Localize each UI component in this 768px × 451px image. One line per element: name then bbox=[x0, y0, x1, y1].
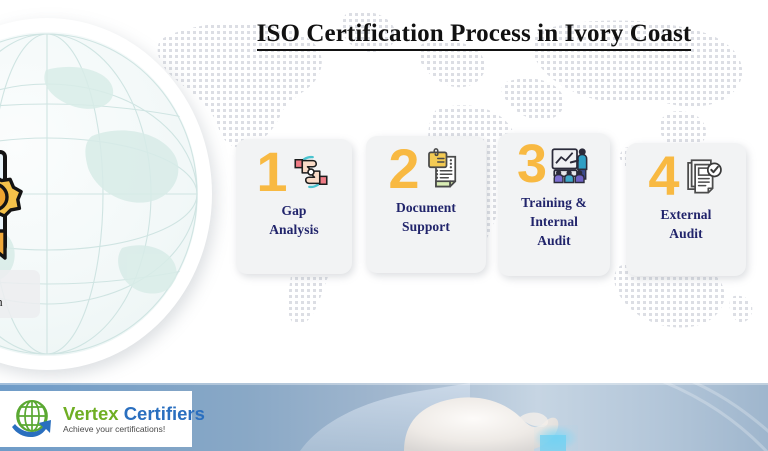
step-card-document-support[interactable]: 2 bbox=[366, 136, 486, 273]
iso-badge-line-2: Certification bbox=[0, 294, 34, 311]
logo-text-block: Vertex Certifiers Achieve your certifica… bbox=[63, 404, 205, 435]
step-label: Training & Internal Audit bbox=[498, 190, 610, 260]
step-card-external-audit[interactable]: 4 External Aud bbox=[626, 143, 746, 276]
audit-documents-check-icon bbox=[682, 155, 724, 197]
step-number: 4 bbox=[648, 150, 677, 202]
page-title: ISO Certification Process in Ivory Coast bbox=[186, 20, 762, 48]
step-label-line-1: Document bbox=[372, 198, 480, 217]
step-label-line-2: Audit bbox=[632, 224, 740, 243]
step-card-header: 1 bbox=[236, 139, 352, 198]
logo-brand-first: Vertex bbox=[63, 403, 119, 424]
step-label: Document Support bbox=[366, 195, 486, 246]
logo-tagline: Achieve your certifications! bbox=[63, 424, 205, 434]
document-clipboard-icon bbox=[422, 148, 464, 190]
step-label: Gap Analysis bbox=[236, 198, 352, 249]
process-steps: 1 Gap Analysis bbox=[236, 131, 756, 281]
infographic-canvas: ISO Certification Process in Ivory Coast bbox=[0, 0, 768, 451]
step-label-line-2: Internal bbox=[504, 212, 604, 231]
step-label-line-1: External bbox=[632, 205, 740, 224]
step-label-line-3: Audit bbox=[504, 231, 604, 250]
step-label-line-2: Support bbox=[372, 217, 480, 236]
step-label-line-1: Training & bbox=[504, 193, 604, 212]
step-number: 1 bbox=[256, 146, 285, 198]
step-card-gap-analysis[interactable]: 1 Gap Analysis bbox=[236, 139, 352, 274]
teamwork-handshake-icon bbox=[290, 151, 332, 193]
step-card-header: 2 bbox=[366, 136, 486, 195]
step-card-training-internal-audit[interactable]: 3 bbox=[498, 133, 610, 276]
iso-badge-line-1: ISO bbox=[0, 277, 34, 294]
brand-logo[interactable]: Vertex Certifiers Achieve your certifica… bbox=[0, 391, 192, 447]
step-label-line-2: Analysis bbox=[242, 220, 346, 239]
certificate-award-icon bbox=[0, 136, 32, 266]
training-presentation-icon bbox=[549, 144, 591, 186]
hero-globe-panel: ISO Certification bbox=[0, 18, 212, 370]
step-label: External Audit bbox=[626, 202, 746, 253]
iso-certification-badge: ISO Certification bbox=[0, 270, 40, 318]
step-label-line-1: Gap bbox=[242, 201, 346, 220]
page-title-text: ISO Certification Process in Ivory Coast bbox=[257, 20, 692, 51]
logo-brand: Vertex Certifiers bbox=[63, 404, 205, 423]
step-number: 2 bbox=[388, 143, 417, 195]
step-card-header: 4 bbox=[626, 143, 746, 202]
step-card-header: 3 bbox=[498, 133, 610, 190]
logo-brand-second: Certifiers bbox=[124, 403, 205, 424]
step-number: 3 bbox=[517, 140, 545, 190]
globe-arrow-logo-icon bbox=[10, 397, 56, 441]
